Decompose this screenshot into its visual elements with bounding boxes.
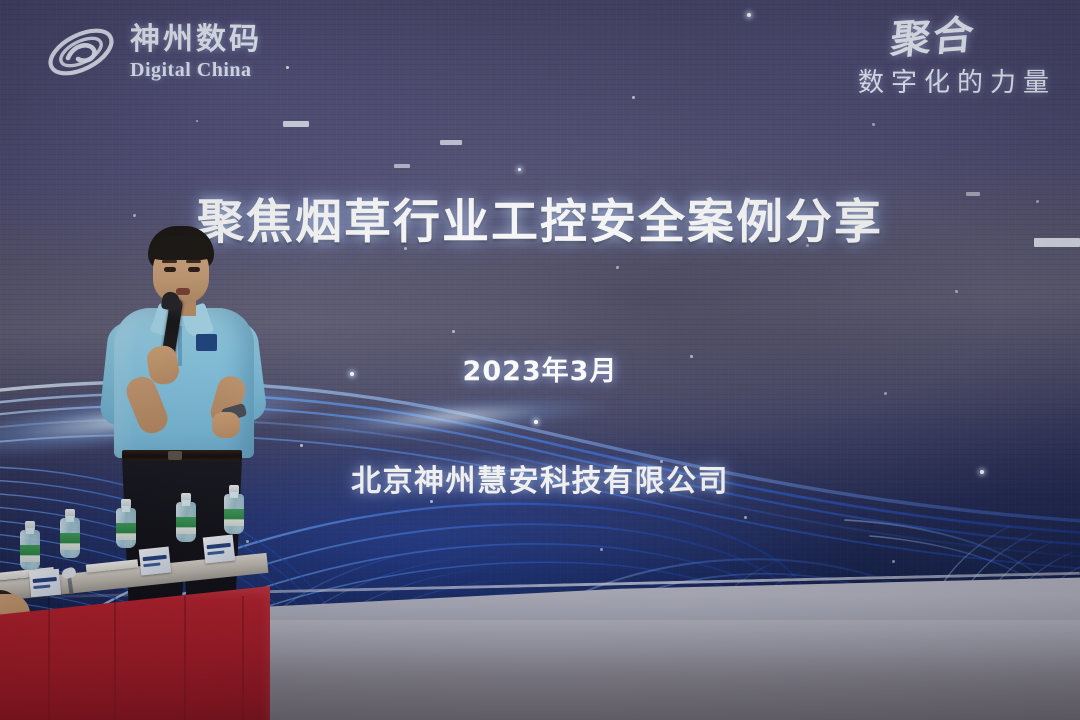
foreground-head-table bbox=[0, 530, 280, 720]
digital-china-name-cn: 神州数码 bbox=[130, 25, 262, 55]
light-bar-small bbox=[394, 164, 410, 168]
digital-china-swirl-icon bbox=[44, 22, 118, 82]
bottle-neck bbox=[26, 528, 34, 534]
bottle-neck bbox=[66, 516, 74, 522]
water-bottle bbox=[60, 518, 80, 558]
presenter-belt-buckle bbox=[168, 451, 182, 460]
presenter-eye-right bbox=[188, 267, 200, 272]
event-theme-logo: 聚合 数字化的力量 bbox=[858, 18, 1056, 99]
name-card-text-line bbox=[33, 577, 57, 583]
light-bar-top-left bbox=[283, 121, 309, 127]
presenter-eye-left bbox=[164, 267, 176, 272]
water-bottle bbox=[116, 508, 136, 548]
bottle-label bbox=[176, 517, 196, 534]
name-card-text-line bbox=[143, 562, 160, 567]
presenter-eyebrow-left bbox=[162, 260, 177, 263]
name-card-text-line bbox=[207, 550, 224, 555]
name-card bbox=[139, 547, 172, 576]
presenter-belt bbox=[122, 450, 242, 461]
presenter-eyebrow-right bbox=[186, 260, 201, 263]
digital-china-logo: 神州数码 Digital China bbox=[44, 22, 262, 82]
name-card-text-line bbox=[143, 555, 167, 561]
digital-china-name-en: Digital China bbox=[130, 60, 262, 80]
bottle-label bbox=[20, 545, 40, 562]
bottle-neck bbox=[230, 492, 238, 498]
bottle-neck bbox=[182, 500, 190, 506]
table-skirt-fold bbox=[48, 596, 50, 720]
light-bar-mid-left bbox=[440, 140, 462, 145]
table-skirt-fold bbox=[184, 596, 186, 720]
event-tagline: 数字化的力量 bbox=[858, 62, 1056, 99]
name-card-text-line bbox=[207, 543, 231, 549]
name-card bbox=[203, 535, 236, 564]
presenter-right-hand bbox=[212, 412, 240, 438]
table-skirt-red bbox=[0, 586, 270, 720]
presenter-mouth bbox=[176, 288, 190, 295]
table-skirt-fold bbox=[114, 596, 116, 720]
bottle-label bbox=[60, 533, 80, 550]
water-bottle bbox=[176, 502, 196, 542]
bottle-neck bbox=[122, 506, 130, 512]
water-bottle bbox=[224, 494, 244, 534]
presenter-chest-logo-icon bbox=[196, 334, 217, 351]
bottle-label bbox=[116, 523, 136, 540]
name-card bbox=[29, 569, 61, 598]
water-bottle bbox=[20, 530, 40, 570]
bottle-label bbox=[224, 509, 244, 526]
name-card-text-line bbox=[33, 585, 50, 589]
event-calligraphy-juhe: 聚合 bbox=[856, 13, 1011, 63]
table-skirt-fold bbox=[242, 596, 244, 720]
presenter-hair-fringe bbox=[149, 236, 213, 260]
presenter-shirt-placket bbox=[178, 326, 182, 366]
stage-photo-scene: 神州数码 Digital China 聚合 数字化的力量 聚焦烟草行业工控安全案… bbox=[0, 0, 1080, 720]
